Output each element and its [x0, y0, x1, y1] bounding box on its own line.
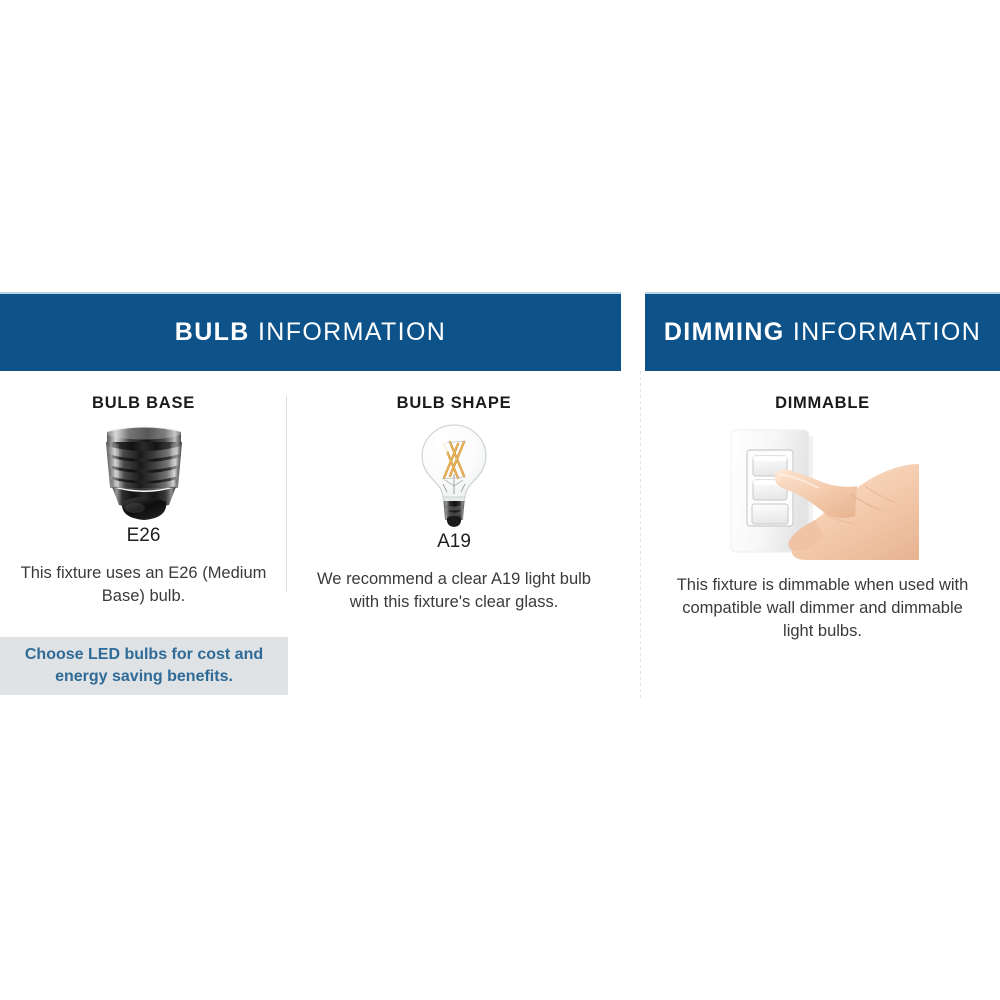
bulb-base-e26-icon	[85, 426, 203, 524]
bulb-base-title: BULB BASE	[0, 392, 287, 414]
dimming-header-normal: INFORMATION	[793, 318, 981, 347]
bulb-base-column: BULB BASE	[0, 392, 287, 608]
bulb-header-normal: INFORMATION	[258, 318, 446, 347]
bulb-shape-title: BULB SHAPE	[287, 392, 621, 414]
wall-dimmer-switch-hand-icon	[723, 424, 923, 560]
bulb-base-description: This fixture uses an E26 (Medium Base) b…	[19, 562, 269, 608]
product-info-graphic: BULB INFORMATION DIMMING INFORMATION BUL…	[0, 0, 1000, 1000]
bulb-header-bold: BULB	[175, 318, 250, 347]
led-callout-text: Choose LED bulbs for cost and energy sav…	[24, 644, 264, 688]
bulb-shape-spec: A19	[287, 530, 621, 554]
dimmable-column: DIMMABLE	[645, 392, 1000, 643]
dimming-information-header: DIMMING INFORMATION	[645, 292, 1000, 371]
bulb-shape-column: BULB SHAPE	[287, 392, 621, 614]
dimming-header-bold: DIMMING	[664, 318, 785, 347]
dimmable-description: This fixture is dimmable when used with …	[667, 574, 979, 643]
bulb-base-spec: E26	[0, 524, 287, 548]
bulb-shape-description: We recommend a clear A19 light bulb with…	[309, 568, 599, 614]
bulb-a19-icon	[411, 422, 497, 530]
led-callout: Choose LED bulbs for cost and energy sav…	[0, 637, 288, 695]
panel-gap-divider	[640, 371, 641, 701]
dimmable-title: DIMMABLE	[645, 392, 1000, 414]
bulb-information-header: BULB INFORMATION	[0, 292, 621, 371]
